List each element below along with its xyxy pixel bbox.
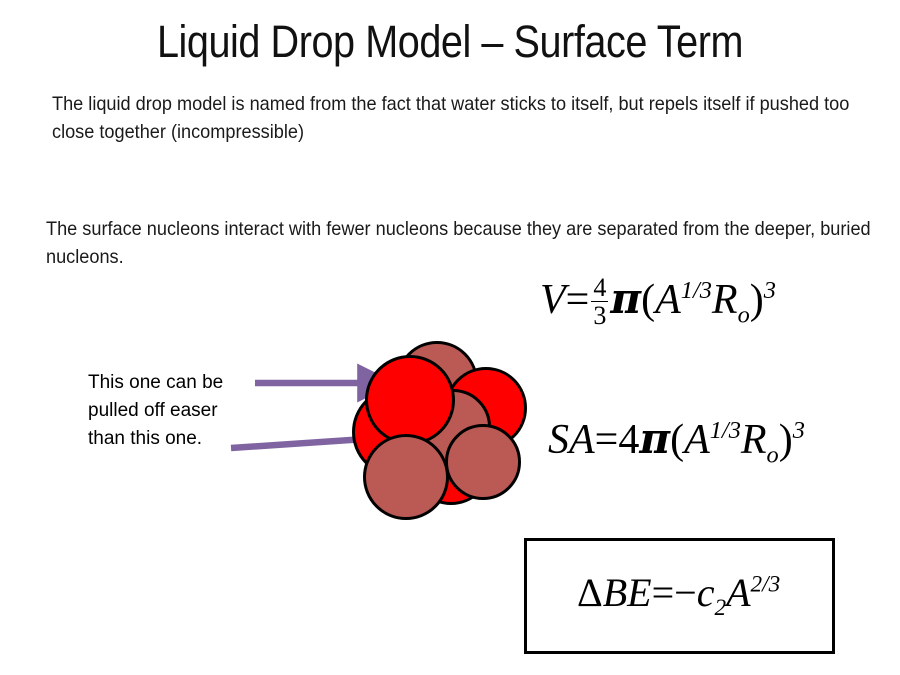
- binding-energy-lhs: BE: [603, 570, 652, 615]
- equation-volume-lhs: V: [540, 277, 566, 323]
- exponent-two-thirds: 2/3: [751, 572, 781, 598]
- mass-number-a: A: [684, 417, 710, 463]
- fraction-denominator: 3: [591, 302, 608, 329]
- open-paren: (: [670, 417, 684, 463]
- equation-surface-equals: =: [595, 417, 619, 463]
- equation-be-equals: =: [652, 570, 675, 615]
- fraction-numerator: 4: [591, 274, 608, 302]
- mass-number-a: A: [655, 277, 681, 323]
- exponent-one-third: 1/3: [681, 277, 712, 304]
- subscript-o: o: [738, 302, 750, 329]
- equation-volume: V=43π(A1/3Ro)3: [540, 274, 776, 329]
- subscript-two: 2: [715, 595, 727, 621]
- close-paren: ): [750, 277, 764, 323]
- nucleus-cluster: [340, 330, 550, 530]
- equation-binding-energy: ΔBE=−c2A2/3: [577, 569, 780, 616]
- equation-surface-lhs: SA: [548, 417, 595, 463]
- nucleon-bottom-left: [363, 434, 449, 520]
- exponent-one-third: 1/3: [710, 417, 741, 444]
- page-title: Liquid Drop Model – Surface Term: [54, 16, 846, 68]
- slide-canvas: Liquid Drop Model – Surface Term The liq…: [0, 0, 900, 675]
- equation-box: ΔBE=−c2A2/3: [524, 538, 835, 654]
- mass-number-a: A: [726, 570, 750, 615]
- close-paren: ): [779, 417, 793, 463]
- subscript-o: o: [767, 441, 779, 468]
- minus-sign: −: [674, 570, 697, 615]
- exponent-three: 3: [764, 277, 776, 304]
- exponent-three: 3: [793, 417, 805, 444]
- equation-volume-equals: =: [566, 277, 590, 323]
- pi-symbol: π: [610, 274, 641, 323]
- equation-surface-area: SA=4π(A1/3Ro)3: [548, 414, 805, 464]
- nucleon-top-left: [365, 355, 455, 445]
- coefficient-four: 4: [618, 417, 639, 463]
- delta-symbol: Δ: [577, 570, 603, 615]
- radius-constant-r: R: [741, 417, 767, 463]
- radius-constant-r: R: [712, 277, 738, 323]
- callout-text: This one can be pulled off easer than th…: [88, 369, 223, 453]
- pi-symbol: π: [639, 414, 670, 463]
- equation-volume-fraction: 43: [591, 274, 608, 329]
- coefficient-c: c: [697, 570, 715, 615]
- nucleon-bottom-right: [445, 424, 521, 500]
- intro-paragraph: The liquid drop model is named from the …: [52, 90, 870, 146]
- open-paren: (: [641, 277, 655, 323]
- surface-paragraph: The surface nucleons interact with fewer…: [46, 215, 883, 271]
